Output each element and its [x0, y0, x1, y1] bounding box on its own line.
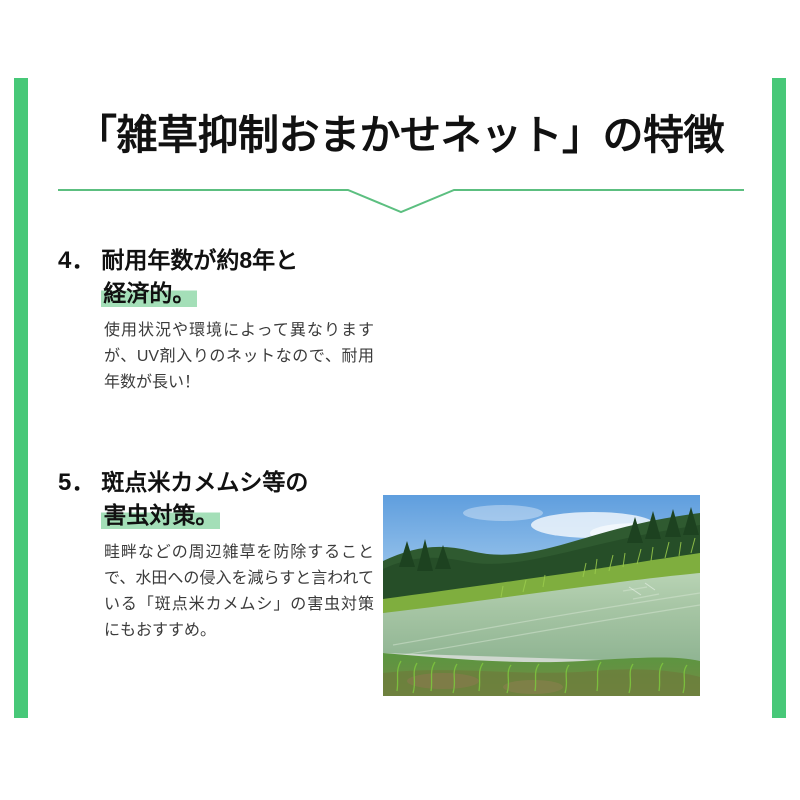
page-title: 「雑草抑制おまかせネット」の特徴	[60, 112, 740, 159]
feature-5-description: 畦畔などの周辺雑草を防除することで、水田への侵入を減らすと言われている「斑点米カ…	[104, 540, 374, 644]
feature-5-heading: 5． 斑点米カメムシ等の 害虫対策。	[58, 466, 373, 531]
feature-4-photo-net-field	[383, 495, 700, 696]
title-divider-with-chevron	[58, 180, 744, 216]
feature-4-description: 使用状況や環境によって異なりますが、UV剤入りのネットなので、耐用年数が長い！	[104, 318, 374, 396]
feature-4-text-block: 4． 耐用年数が約8年と 経済的。 使用状況や環境によって異なりますが、UV剤入…	[58, 244, 373, 396]
feature-5-heading-line1: 斑点米カメムシ等の	[101, 466, 373, 499]
feature-4-heading: 4． 耐用年数が約8年と 経済的。	[58, 244, 373, 309]
feature-page: 「雑草抑制おまかせネット」の特徴 4． 耐用年数が約8年と 経済的。 使用状況や…	[0, 0, 800, 800]
feature-5-text-block: 5． 斑点米カメムシ等の 害虫対策。 畦畔などの周辺雑草を防除することで、水田へ…	[58, 466, 373, 644]
feature-4-number: 4．	[58, 244, 101, 278]
feature-4-heading-highlight: 経済的。	[101, 280, 197, 307]
right-green-rail	[772, 78, 786, 718]
feature-4-heading-line1: 耐用年数が約8年と	[101, 244, 373, 277]
feature-5-heading-highlight: 害虫対策。	[101, 502, 220, 529]
left-green-rail	[14, 78, 28, 718]
feature-5-number: 5．	[58, 466, 101, 500]
